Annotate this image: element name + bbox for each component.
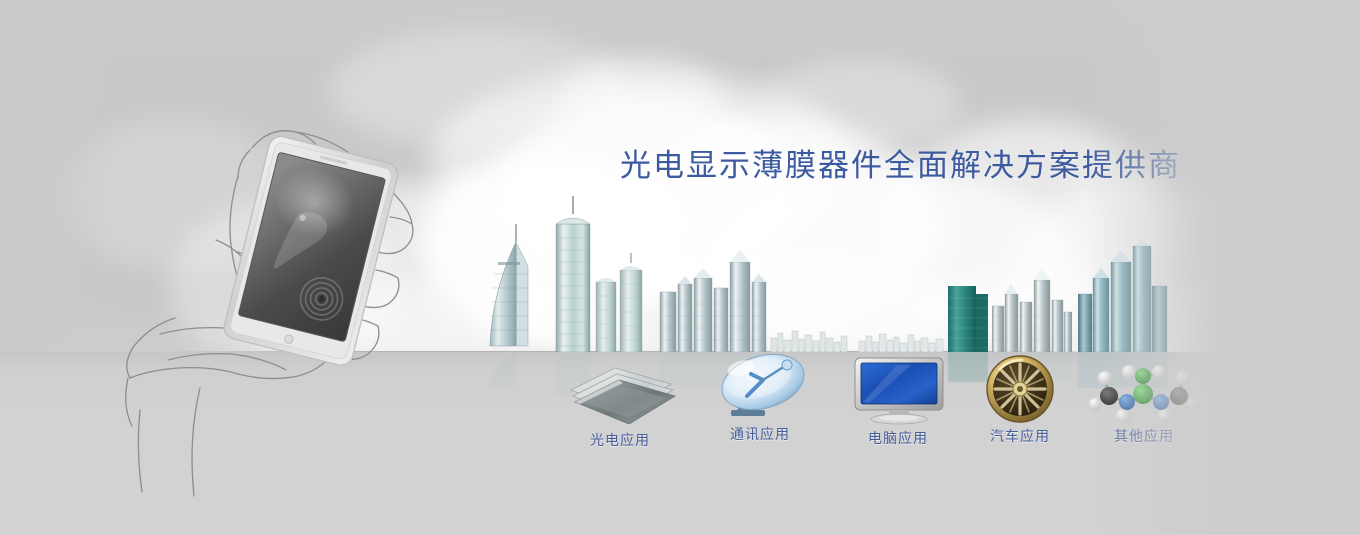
application-item-computer[interactable]: 电脑应用 bbox=[838, 356, 958, 448]
application-label: 电脑应用 bbox=[838, 428, 958, 448]
application-item-automotive[interactable]: 汽车应用 bbox=[960, 354, 1080, 446]
car-wheel-rim-icon bbox=[960, 354, 1080, 420]
hand-holding-phone-sketch bbox=[120, 120, 500, 520]
application-item-communication[interactable]: 通讯应用 bbox=[700, 352, 820, 444]
application-item-optoelectronic[interactable]: 光电应用 bbox=[560, 358, 680, 450]
satellite-dish-icon bbox=[700, 352, 820, 418]
right-edge-fade bbox=[1086, 0, 1236, 535]
application-label: 光电应用 bbox=[560, 430, 680, 450]
banner-stage: 光电显示薄膜器件全面解决方案提供商 bbox=[0, 0, 1360, 535]
application-label: 通讯应用 bbox=[700, 424, 820, 444]
banner-photo: 光电显示薄膜器件全面解决方案提供商 bbox=[0, 0, 1236, 535]
computer-monitor-icon bbox=[838, 356, 958, 422]
application-label: 汽车应用 bbox=[960, 426, 1080, 446]
glass-film-sheets-icon bbox=[560, 358, 680, 424]
